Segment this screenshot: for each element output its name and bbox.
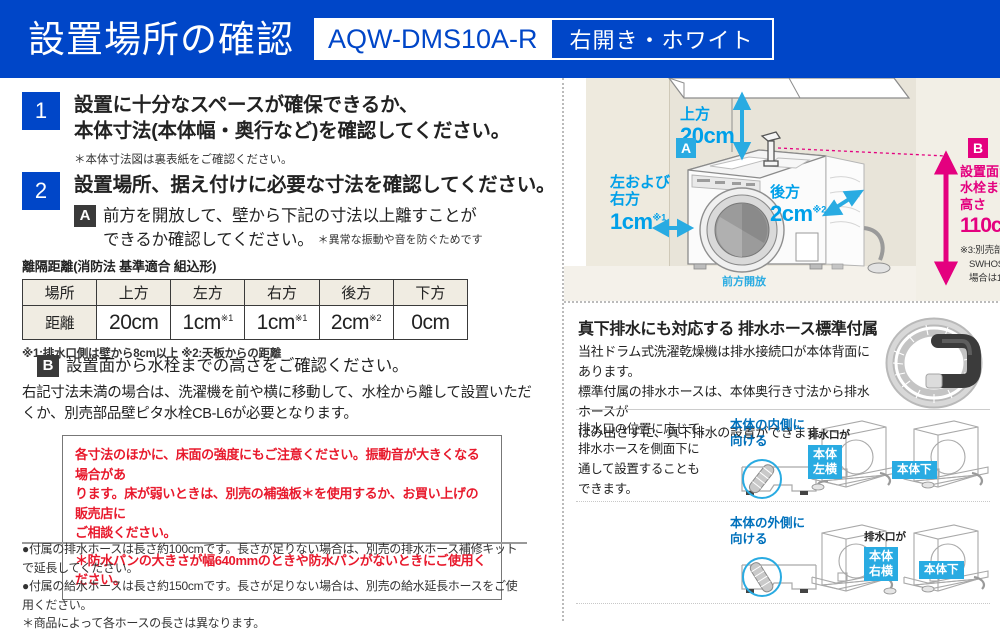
drain-case-row2-chip2: 本体下	[919, 561, 964, 579]
drain-case-row1-chip2: 本体下	[892, 461, 937, 479]
table-header-row: 場所 上方 左方 右方 後方 下方	[23, 280, 468, 306]
installation-diagram: 上方 20cm A 左および 右方 1cm※1 後方 2cm※2 前方開放 B	[564, 78, 1000, 301]
inner-direction-line2: 向ける	[730, 433, 805, 449]
diagram-side-label-value: 1cm※1	[610, 209, 670, 234]
section-b-desc-line1: 右記寸法未満の場合は、洗濯機を前や横に移動して、水栓から離して設置いただ	[22, 383, 532, 404]
bullet-2-line-1: ●付属の給水ホースは長さ約150cmです。長さが足りない場合は、別売の給水延長ホ…	[22, 579, 517, 593]
step-2-a-text-2: できるか確認してください。	[103, 229, 314, 252]
step-2-a-line-1: A 前方を開放して、壁から下記の寸法以上離すことが	[74, 205, 555, 228]
page-title: 設置場所の確認	[28, 21, 294, 58]
bullet-2-line-2: 用ください。	[22, 598, 92, 612]
diagram-side-label: 左および 右方 1cm※1	[610, 174, 670, 234]
table-row-label: 距離	[23, 306, 97, 340]
diagram-rear-label-line1: 後方	[770, 184, 826, 201]
drain-body2-line1: 排水口の位置に応じて、	[578, 419, 728, 439]
drain-divider-1	[576, 409, 990, 410]
table-row: 距離 20cm 1cm※1 1cm※1 2cm※2 0cm	[23, 306, 468, 340]
table-header-place: 場所	[23, 280, 97, 306]
diagram-height-label: 設置面から 水栓までの 高さ 110cm以上※3	[960, 164, 1000, 239]
table-cell-left: 1cm※1	[171, 306, 245, 340]
warning-line-2: ります。床が弱いときは、別売の補強板＊を使用するか、お買い上げの販売店に	[75, 486, 478, 521]
badge-b-icon: B	[37, 355, 59, 377]
drain-case-row1-chip1: 本体 左横	[808, 445, 842, 479]
step-2: 2 設置場所、据え付けに必要な寸法を確認してください。 A 前方を開放して、壁か…	[22, 172, 555, 252]
step-1: 1 設置に十分なスペースが確保できるか、 本体寸法(本体幅・奥行など)を確認して…	[22, 92, 510, 167]
drain-case-row2-caption-group: 排水口が 本体 右横	[864, 529, 906, 581]
table-header-right: 右方	[245, 280, 319, 306]
step-2-body: 設置場所、据え付けに必要な寸法を確認してください。 A 前方を開放して、壁から下…	[74, 172, 555, 252]
inner-direction-line1: 本体の内側に	[730, 417, 805, 433]
drain-case-row2-chip1: 本体 右横	[864, 547, 898, 581]
bullet-2: ●付属の給水ホースは長さ約150cmです。長さが足りない場合は、別売の給水延長ホ…	[22, 577, 542, 614]
table-header-left: 左方	[171, 280, 245, 306]
drain-case-row1-caption: 排水口が	[808, 427, 850, 442]
table-cell-bottom: 0cm	[393, 306, 467, 340]
model-code: AQW-DMS10A-R	[314, 18, 552, 60]
coiled-hose-icon	[882, 311, 992, 411]
distance-table-block: 離隔距離(消防法 基準適合 組込形) 場所 上方 左方 右方 後方 下方 距離 …	[22, 256, 468, 361]
diagram-height-line3: 高さ	[960, 197, 1000, 213]
step-2-number: 2	[22, 172, 60, 210]
table-cell-right-sup: ※1	[295, 313, 308, 323]
drain-hose-section: 真下排水にも対応する 排水ホース標準付属 当社ドラム式洗濯乾燥機は排水接続口が本…	[564, 301, 1000, 621]
diagram-rear-value-sup: ※2	[813, 205, 827, 215]
diagram-side-label-line1: 左および	[610, 174, 670, 191]
hose-bullets: ●付属の排水ホースは長さ約100cmです。長さが足りない場合は、別売の排水ホース…	[22, 540, 542, 633]
diagram-front-open-label: 前方開放	[722, 273, 766, 289]
table-cell-top-value: 20cm	[109, 311, 158, 334]
diagram-note3-line2: SWHOSE-L1を使用した	[960, 258, 1000, 272]
drain-case-row1-chip1-line1: 本体	[813, 447, 837, 461]
diagram-rear-value-text: 2cm	[770, 201, 813, 226]
section-b-desc: 右記寸法未満の場合は、洗濯機を前や横に移動して、水栓から離して設置いただ くか、…	[22, 383, 532, 425]
warning-line-1: 各寸法のほかに、床面の強度にもご注意ください。振動音が大きくなる場合があ	[75, 447, 479, 482]
badge-a-icon: A	[74, 205, 96, 227]
model-badge-group: AQW-DMS10A-R 右開き・ホワイト	[314, 18, 774, 60]
section-b-heading-row: B 設置面から水栓までの高さをご確認ください。	[37, 355, 408, 378]
section-b-desc-line2: くか、別売部品壁ピタ水栓CB-L6が必要となります。	[22, 404, 532, 425]
step-2-a-note: ＊異常な振動や音を防ぐためです	[318, 233, 483, 252]
warning-line-3: ご相談ください。	[75, 525, 176, 540]
diagram-note3-line1: ※3:別売部品L型給水ホース	[960, 244, 1000, 258]
diagram-rear-label: 後方 2cm※2	[770, 184, 826, 227]
outer-direction-line1: 本体の外側に	[730, 515, 805, 531]
table-cell-right: 1cm※1	[245, 306, 319, 340]
diagram-top-label-line1: 上方	[680, 106, 734, 123]
drain-case-row2-chip1-line1: 本体	[869, 549, 893, 563]
table-cell-top: 20cm	[97, 306, 171, 340]
step-1-heading-line1: 設置に十分なスペースが確保できるか、	[74, 92, 510, 118]
distance-table: 場所 上方 左方 右方 後方 下方 距離 20cm 1cm※1 1cm※1 2c…	[22, 279, 468, 340]
table-header-top: 上方	[97, 280, 171, 306]
drain-body2-line4: できます。	[578, 479, 728, 499]
diagram-side-label-line2: 右方	[610, 191, 670, 208]
diagram-rear-label-value: 2cm※2	[770, 201, 826, 226]
warning-text-1: 各寸法のほかに、床面の強度にもご注意ください。振動音が大きくなる場合があ ります…	[75, 445, 489, 543]
diagram-height-line2: 水栓までの	[960, 180, 1000, 196]
step-1-body: 設置に十分なスペースが確保できるか、 本体寸法(本体幅・奥行など)を確認してくだ…	[74, 92, 510, 167]
drain-body-line1: 当社ドラム式洗濯乾燥機は排水接続口が本体背面にあります。	[578, 342, 878, 382]
left-content-column: 1 設置に十分なスペースが確保できるか、 本体寸法(本体幅・奥行など)を確認して…	[0, 78, 562, 621]
table-cell-rear-value: 2cm	[331, 311, 369, 334]
step-2-a-text-1: 前方を開放して、壁から下記の寸法以上離すことが	[103, 205, 477, 228]
inner-direction-label: 本体の内側に 向ける	[730, 417, 805, 450]
table-cell-left-value: 1cm	[183, 311, 221, 334]
drain-case-row1-chip1-line2: 左横	[813, 462, 837, 476]
drain-body2-line2: 排水ホースを側面下に	[578, 439, 728, 459]
right-content-column: 上方 20cm A 左および 右方 1cm※1 後方 2cm※2 前方開放 B	[562, 78, 1000, 621]
diagram-side-value-text: 1cm	[610, 209, 653, 234]
table-cell-right-value: 1cm	[257, 311, 295, 334]
step-1-heading-line2: 本体寸法(本体幅・奥行など)を確認してください。	[74, 118, 510, 144]
page-header: 設置場所の確認 AQW-DMS10A-R 右開き・ホワイト	[0, 0, 1000, 78]
diagram-badge-b: B	[968, 138, 988, 158]
outer-direction-label: 本体の外側に 向ける	[730, 515, 805, 548]
drain-divider-2	[576, 501, 990, 502]
table-cell-rear-sup: ※2	[369, 313, 382, 323]
drain-title: 真下排水にも対応する 排水ホース標準付属	[578, 315, 878, 339]
outer-direction-line2: 向ける	[730, 531, 805, 547]
table-cell-left-sup: ※1	[221, 313, 234, 323]
diagram-height-value: 110cm以上※3	[960, 213, 1000, 239]
page-root: 設置場所の確認 AQW-DMS10A-R 右開き・ホワイト 1 設置に十分なスペ…	[0, 0, 1000, 621]
drain-case-row2-caption: 排水口が	[864, 529, 906, 544]
drain-divider-3	[576, 603, 990, 604]
section-b: B 設置面から水栓までの高さをご確認ください。	[37, 355, 408, 378]
bullet-1-line-1: ●付属の排水ホースは長さ約100cmです。長さが足りない場合は、別売の排水ホース…	[22, 542, 517, 556]
step-2-a-line-2: できるか確認してください。 ＊異常な振動や音を防ぐためです	[103, 229, 555, 252]
diagram-height-line1: 設置面から	[960, 164, 1000, 180]
diagram-height-value-text: 110cm以上	[960, 214, 1000, 237]
step-1-number: 1	[22, 92, 60, 130]
step-2-heading: 設置場所、据え付けに必要な寸法を確認してください。	[74, 172, 555, 198]
diagram-note3: ※3:別売部品L型給水ホース SWHOSE-L1を使用した 場合は100cm以上…	[960, 244, 1000, 285]
step-1-note: ＊本体寸法図は裏表紙をご確認ください。	[74, 151, 510, 167]
section-b-heading: 設置面から水栓までの高さをご確認ください。	[66, 355, 408, 378]
table-header-bottom: 下方	[393, 280, 467, 306]
drain-case-row2-chip1-line2: 右横	[869, 564, 893, 578]
diagram-badge-a: A	[676, 138, 696, 158]
bullet-1: ●付属の排水ホースは長さ約100cmです。長さが足りない場合は、別売の排水ホース…	[22, 540, 542, 577]
bullet-3: ＊商品によって各ホースの長さは異なります。	[22, 614, 542, 633]
table-cell-rear: 2cm※2	[319, 306, 393, 340]
drain-body2: 排水口の位置に応じて、 排水ホースを側面下に 通して設置することも できます。	[578, 419, 728, 499]
table-header-rear: 後方	[319, 280, 393, 306]
diagram-note3-line3: 場合は100cm以上。	[960, 272, 1000, 286]
drain-body2-line3: 通して設置することも	[578, 459, 728, 479]
table-cell-bottom-value: 0cm	[411, 311, 449, 334]
model-variant: 右開き・ホワイト	[552, 18, 774, 60]
distance-table-title: 離隔距離(消防法 基準適合 組込形)	[22, 256, 468, 275]
drain-case-row1-caption-group: 排水口が 本体 左横	[808, 427, 850, 479]
bullet-1-line-2: で延長してください。	[22, 561, 138, 575]
diagram-side-value-sup: ※1	[653, 212, 667, 222]
